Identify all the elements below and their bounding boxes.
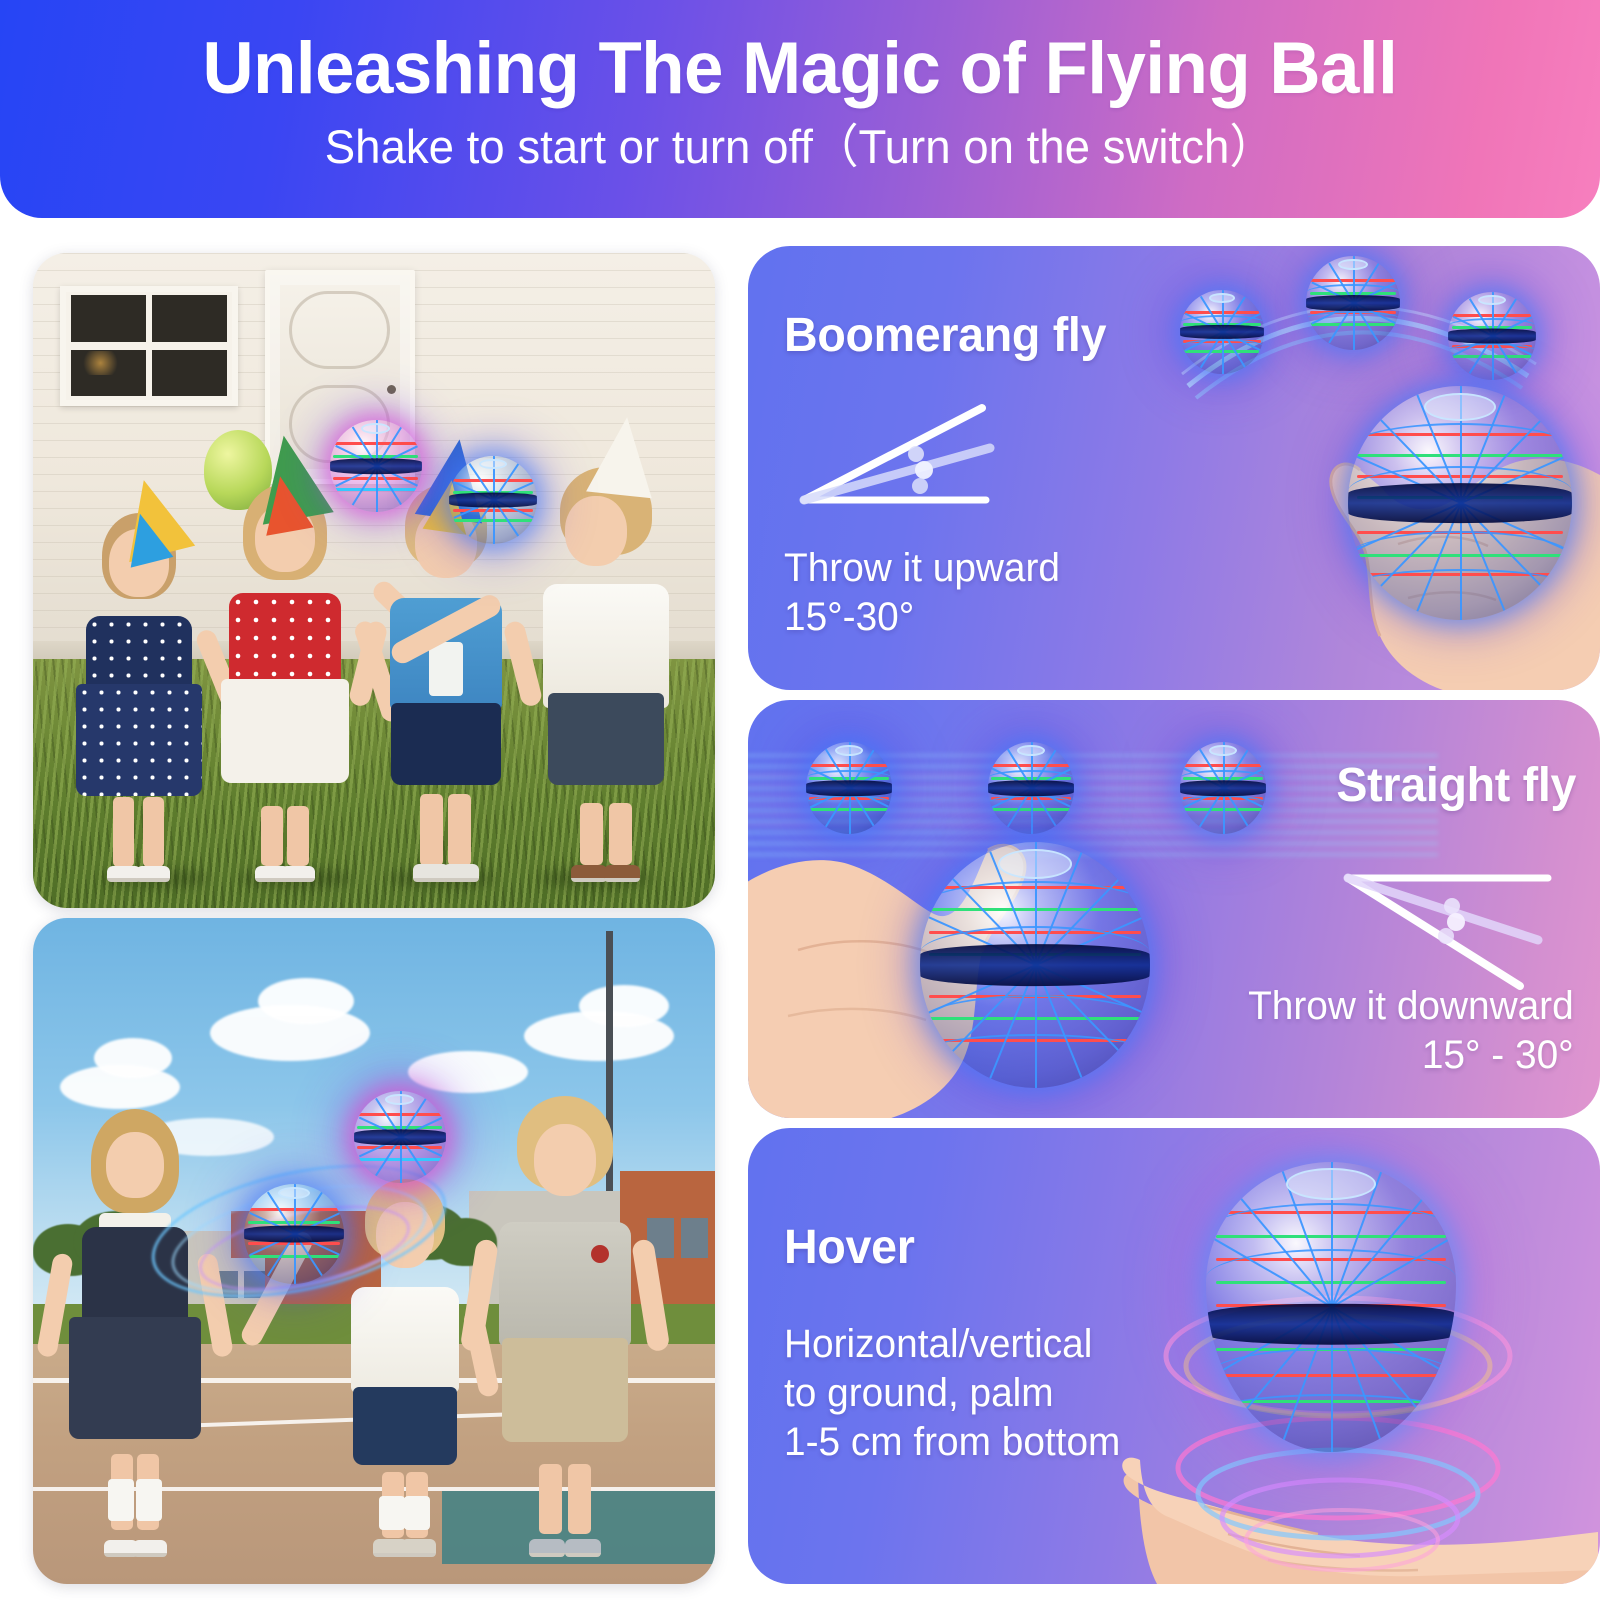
flying-orb-main xyxy=(1348,386,1572,620)
party-hat xyxy=(586,413,660,497)
flying-orb xyxy=(449,456,537,544)
angle-down-icon xyxy=(1334,864,1564,994)
photo-kids-party xyxy=(33,253,715,908)
flying-orb-main xyxy=(920,842,1150,1088)
page-title: Unleashing The Magic of Flying Ball xyxy=(203,31,1398,107)
child-white-tee xyxy=(524,463,688,882)
instruction-line: to ground, palm xyxy=(784,1369,1120,1418)
panel-boomerang-fly: Boomerang fly Throw it upward 15°-30° xyxy=(748,246,1600,690)
instruction-line: Throw it upward xyxy=(784,544,1060,593)
flying-orb xyxy=(354,1091,446,1183)
panel-straight-fly: Straight fly Throw it downward 15° - 30° xyxy=(748,700,1600,1118)
child-red-dress xyxy=(210,476,360,882)
flying-orb xyxy=(1180,290,1264,374)
boy-grey-polo xyxy=(483,1091,647,1557)
panel-title-hover: Hover xyxy=(784,1220,915,1275)
flying-orb xyxy=(1448,292,1536,380)
page-subtitle: Shake to start or turn off（Turn on the s… xyxy=(325,121,1275,173)
flying-orb xyxy=(988,742,1074,834)
panel-hover: Hover Horizontal/vertical to ground, pal… xyxy=(748,1128,1600,1584)
panel-title-straight: Straight fly xyxy=(1336,758,1576,813)
flying-orb xyxy=(330,420,422,512)
flying-orb xyxy=(1306,256,1400,350)
instruction-angle: 15°-30° xyxy=(784,593,1060,642)
instruction-line: Throw it downward xyxy=(1248,982,1574,1031)
flying-orb xyxy=(806,742,892,834)
flying-orb-main xyxy=(1206,1162,1456,1452)
child-navy-dress xyxy=(67,502,210,882)
house-window xyxy=(60,286,237,406)
panel-title-boomerang: Boomerang fly xyxy=(784,308,1106,363)
girl-navy-dress xyxy=(60,1105,210,1558)
infographic-page: Unleashing The Magic of Flying Ball Shak… xyxy=(0,0,1600,1600)
angle-up-icon xyxy=(796,402,996,510)
panel-body-hover: Horizontal/vertical to ground, palm 1-5 … xyxy=(784,1320,1120,1466)
flying-orb xyxy=(1180,742,1266,834)
photo-kids-schoolyard xyxy=(33,918,715,1584)
instruction-line: 1-5 cm from bottom xyxy=(784,1418,1120,1467)
panel-body-boomerang: Throw it upward 15°-30° xyxy=(784,544,1060,642)
panel-body-straight: Throw it downward 15° - 30° xyxy=(1248,982,1574,1080)
instruction-angle: 15° - 30° xyxy=(1248,1031,1574,1080)
header-banner: Unleashing The Magic of Flying Ball Shak… xyxy=(0,0,1600,218)
instruction-line: Horizontal/vertical xyxy=(784,1320,1120,1369)
